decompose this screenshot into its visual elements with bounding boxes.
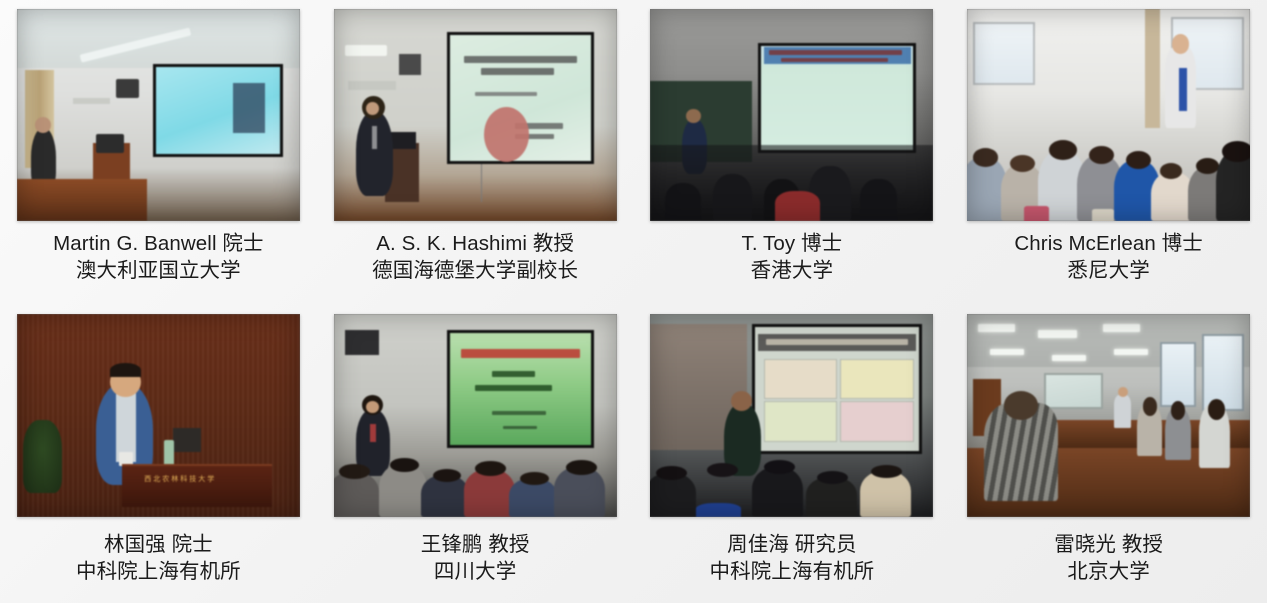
speaker-affiliation: 北京大学 [1054,558,1163,585]
photo-wangfengpeng[interactable] [334,314,617,517]
photo-hashimi[interactable] [334,9,617,221]
speaker-affiliation: 悉尼大学 [1014,257,1203,284]
caption-leixiaoguang: 雷晓光 教授 北京大学 [1054,531,1163,586]
caption-zhoujiahai: 周佳海 研究员 中科院上海有机所 [709,531,874,586]
speaker-affiliation: 中科院上海有机所 [709,558,874,585]
speaker-name: T. Toy 博士 [741,230,842,257]
caption-toy: T. Toy 博士 香港大学 [741,230,842,285]
speaker-name: 林国强 院士 [76,531,241,558]
speaker-name: A. S. K. Hashimi 教授 [372,230,578,257]
speaker-card-mcerlean[interactable]: Chris McErlean 博士 悉尼大学 [950,0,1267,303]
speaker-affiliation: 澳大利亚国立大学 [53,257,263,284]
photo-linguoqiang[interactable]: 西北农林科技大学 [17,314,300,517]
speaker-card-linguoqiang[interactable]: 西北农林科技大学 林国强 院士 中科院上海有机所 [0,303,317,603]
speaker-affiliation: 德国海德堡大学副校长 [372,257,578,284]
speaker-name: Martin G. Banwell 院士 [53,230,263,257]
speaker-name: 雷晓光 教授 [1054,531,1163,558]
photo-toy[interactable] [650,9,933,221]
speaker-card-toy[interactable]: T. Toy 博士 香港大学 [634,0,951,303]
caption-wangfengpeng: 王锋鹏 教授 四川大学 [421,531,530,586]
speaker-name: 王锋鹏 教授 [421,531,530,558]
speaker-card-wangfengpeng[interactable]: 王锋鹏 教授 四川大学 [317,303,634,603]
caption-linguoqiang: 林国强 院士 中科院上海有机所 [76,531,241,586]
caption-banwell: Martin G. Banwell 院士 澳大利亚国立大学 [53,230,263,285]
speaker-affiliation: 中科院上海有机所 [76,558,241,585]
caption-mcerlean: Chris McErlean 博士 悉尼大学 [1014,230,1203,285]
speaker-name: Chris McErlean 博士 [1014,230,1203,257]
speaker-name: 周佳海 研究员 [709,531,874,558]
speaker-affiliation: 四川大学 [421,558,530,585]
photo-banwell[interactable] [17,9,300,221]
photo-zhoujiahai[interactable] [650,314,933,517]
speaker-affiliation: 香港大学 [741,257,842,284]
photo-mcerlean[interactable] [967,9,1250,221]
photo-leixiaoguang[interactable] [967,314,1250,517]
speaker-card-leixiaoguang[interactable]: 雷晓光 教授 北京大学 [950,303,1267,603]
caption-hashimi: A. S. K. Hashimi 教授 德国海德堡大学副校长 [372,230,578,285]
speaker-card-zhoujiahai[interactable]: 周佳海 研究员 中科院上海有机所 [634,303,951,603]
speaker-photo-grid: Martin G. Banwell 院士 澳大利亚国立大学 [0,0,1267,603]
speaker-card-hashimi[interactable]: A. S. K. Hashimi 教授 德国海德堡大学副校长 [317,0,634,303]
speaker-card-banwell[interactable]: Martin G. Banwell 院士 澳大利亚国立大学 [0,0,317,303]
